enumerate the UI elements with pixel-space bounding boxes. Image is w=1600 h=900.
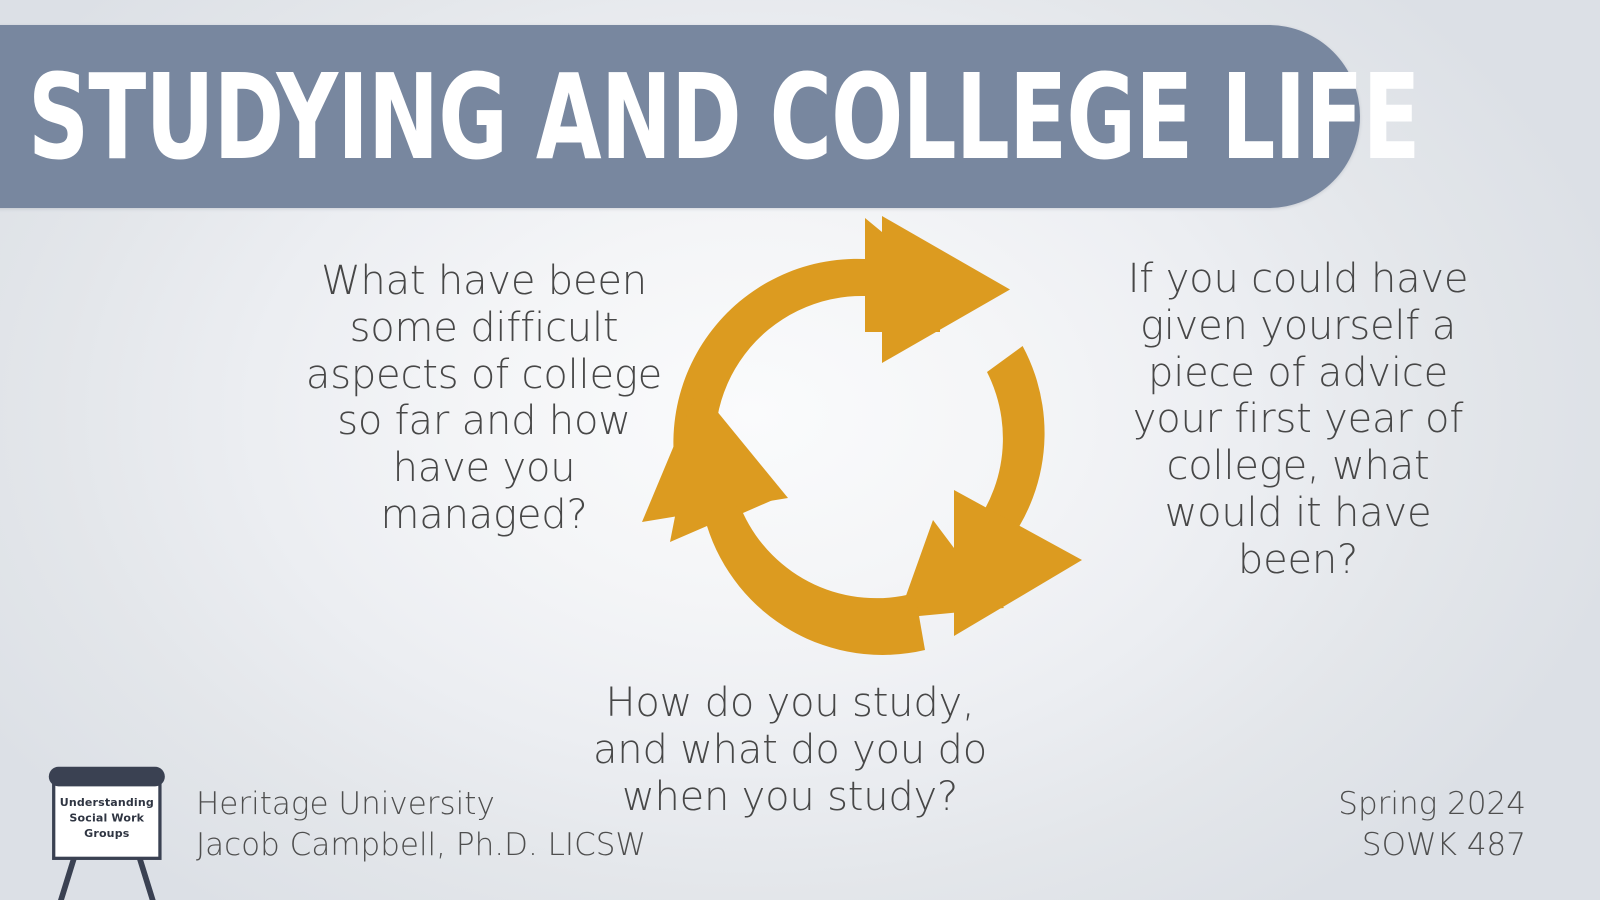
cycle-arrows-graphic — [630, 208, 1100, 678]
question-left: What have been some difficult aspects of… — [296, 258, 672, 539]
footer-institution: Heritage University — [196, 784, 646, 825]
footer-presenter: Jacob Campbell, Ph.D. LICSW — [196, 825, 646, 866]
easel-flipchart-icon: Understanding Social Work Groups — [28, 757, 184, 900]
three-arrow-cycle-icon — [630, 208, 1100, 678]
question-right: If you could have given yourself a piece… — [1110, 256, 1486, 584]
page-title: STUDYING AND COLLEGE LIFE — [28, 58, 1420, 176]
logo-line-1: Understanding — [60, 796, 154, 809]
logo-line-2: Social Work — [69, 812, 144, 825]
course-logo: Understanding Social Work Groups — [28, 757, 184, 900]
footer-course-info: Spring 2024 SOWK 487 — [1338, 784, 1526, 866]
title-banner: STUDYING AND COLLEGE LIFE — [0, 25, 1360, 208]
footer-course: SOWK 487 — [1338, 825, 1526, 866]
question-bottom: How do you study, and what do you do whe… — [590, 680, 990, 820]
logo-line-3: Groups — [84, 827, 130, 840]
slide-canvas: STUDYING AND COLLEGE LIFE What have been… — [0, 0, 1600, 900]
footer-attribution: Heritage University Jacob Campbell, Ph.D… — [196, 784, 646, 866]
footer-term: Spring 2024 — [1338, 784, 1526, 825]
